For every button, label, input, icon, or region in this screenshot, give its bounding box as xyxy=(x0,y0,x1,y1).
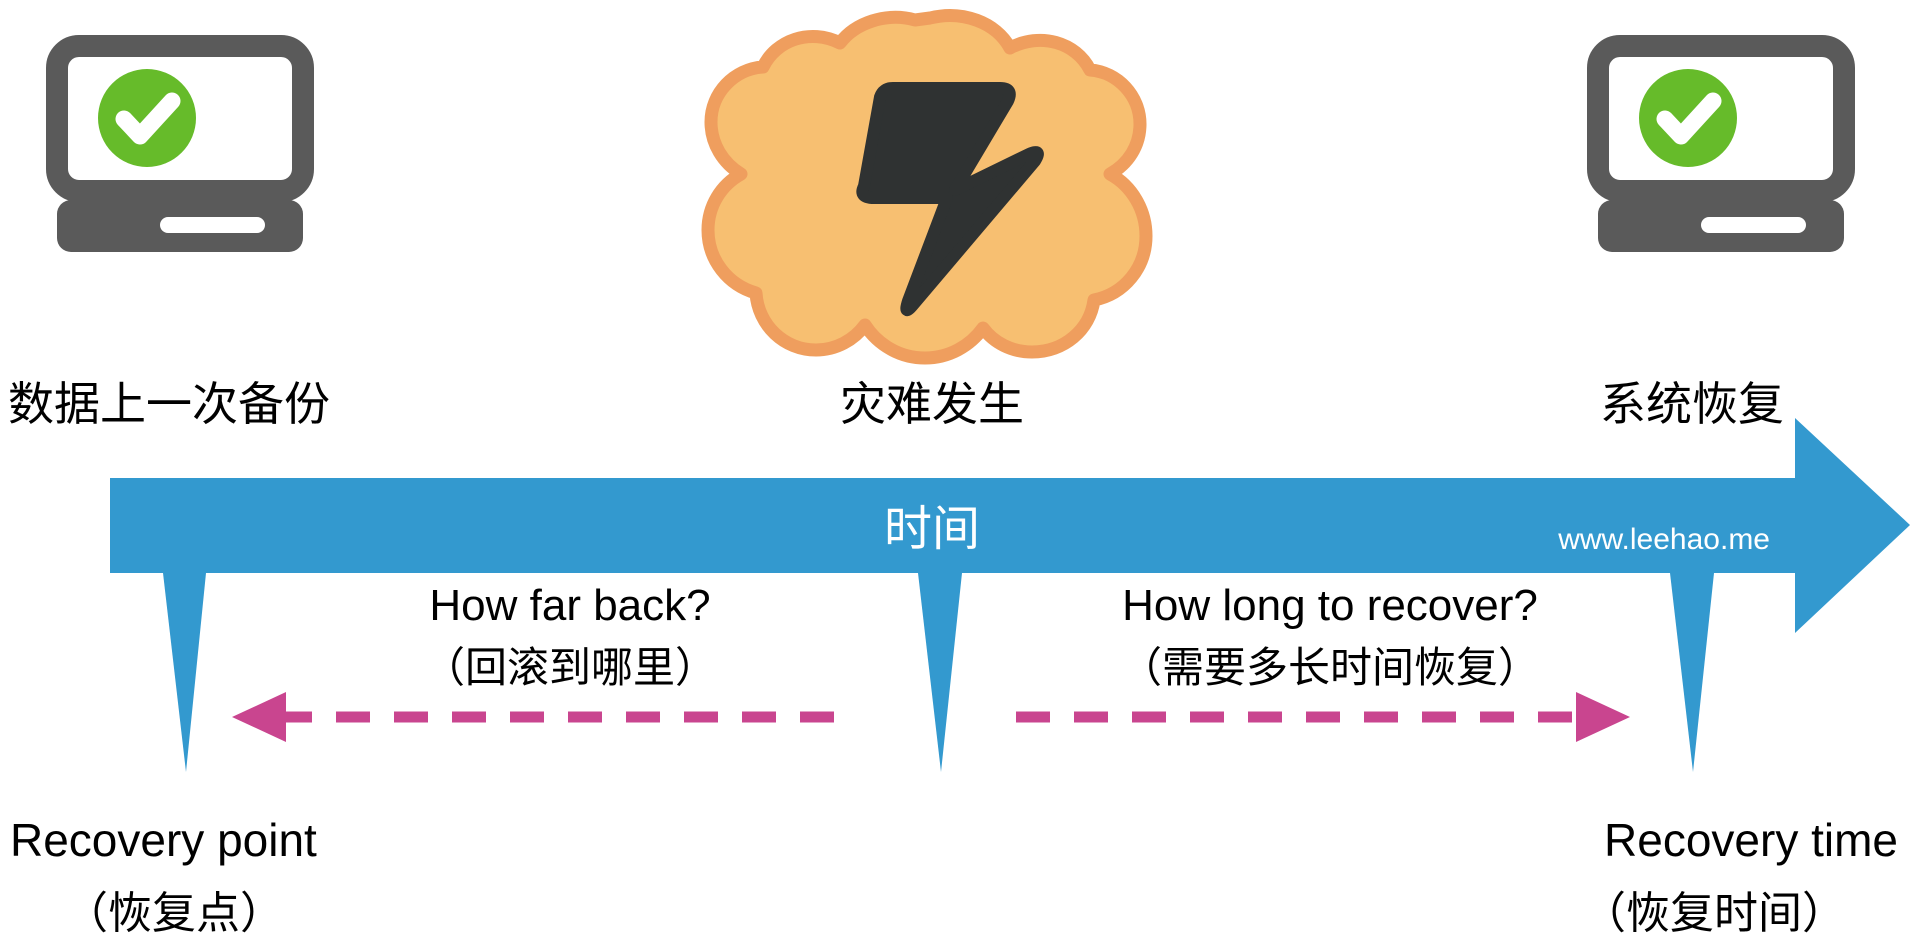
timeline-label: 时间 xyxy=(884,503,980,556)
rpo-dashed-arrow-left xyxy=(232,692,848,742)
footer-recovery-time-en: Recovery time xyxy=(1604,814,1898,866)
node-label-disaster: 灾难发生 xyxy=(840,378,1024,430)
rpo-arrowhead-left xyxy=(232,692,286,742)
footer-recovery-time-cn: （恢复时间） xyxy=(1582,889,1846,938)
node-label-last-backup: 数据上一次备份 xyxy=(8,378,330,430)
footer-recovery-point-cn: （恢复点） xyxy=(64,889,284,938)
rpo-rto-timeline-diagram: 数据上一次备份 灾难发生 系统恢复 时间 www.leehao.me How f… xyxy=(0,0,1914,945)
node-label-system-recovered: 系统恢复 xyxy=(1600,378,1784,430)
monitor-check-icon-left xyxy=(57,46,303,252)
rto-question-cn: （需要多长时间恢复） xyxy=(1120,644,1540,691)
watermark-url: www.leehao.me xyxy=(1557,523,1770,556)
monitor-base-slot xyxy=(160,217,265,233)
timeline-tick-recovery-point xyxy=(163,573,206,772)
monitor-check-icon-right xyxy=(1598,46,1844,252)
rto-dashed-arrow-right xyxy=(1016,692,1630,742)
footer-recovery-point-en: Recovery point xyxy=(10,814,317,866)
rpo-question-en: How far back? xyxy=(429,581,710,630)
timeline-tick-disaster xyxy=(918,573,962,772)
monitor-base-slot xyxy=(1701,217,1806,233)
storm-cloud-bolt-icon xyxy=(708,16,1146,358)
rpo-question-cn: （回滚到哪里） xyxy=(423,644,717,691)
timeline-tick-recovery-time xyxy=(1670,573,1714,772)
rto-arrowhead-right xyxy=(1576,692,1630,742)
timeline-arrow xyxy=(110,418,1910,772)
rto-question-en: How long to recover? xyxy=(1122,581,1538,630)
diagram-canvas: 数据上一次备份 灾难发生 系统恢复 时间 www.leehao.me How f… xyxy=(0,0,1914,945)
